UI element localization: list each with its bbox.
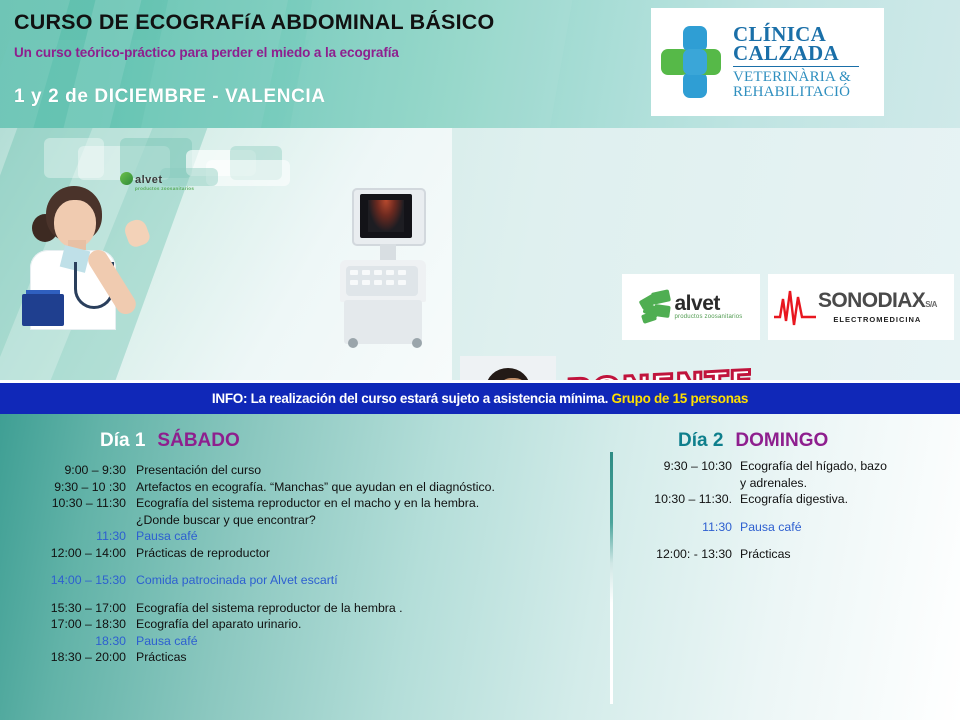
schedule-row: 12:00: - 13:30Prácticas: [626, 546, 946, 563]
schedule-row-description: Prácticas de reproductor: [136, 545, 607, 562]
clinic-logo-line3: VETERINÀRIA &: [733, 70, 859, 85]
schedule-row: 15:30 – 17:00Ecografía del sistema repro…: [22, 600, 607, 617]
alvet-logo-word: alvet: [675, 295, 743, 313]
sonodiax-logo-sub: ELECTROMEDICINA: [818, 315, 937, 324]
day2-label: Día 2: [678, 430, 723, 451]
course-title: CURSO DE ECOGRAFíA ABDOMINAL BÁSICO: [14, 10, 494, 35]
sonodiax-logo: SONODIAXS/A ELECTROMEDICINA: [768, 274, 954, 340]
day1-label: Día 1: [100, 430, 145, 451]
veterinary-cross-icon: [661, 26, 727, 98]
schedule-row: 14:00 – 15:30Comida patrocinada por Alve…: [22, 572, 607, 589]
schedule-spacer: [626, 535, 946, 546]
schedule-row-description: Pausa café: [740, 519, 946, 536]
ponente-banner: PONENTE: [566, 363, 753, 380]
info-bar-highlight: Grupo de 15 personas: [612, 391, 749, 406]
schedule-row: y adrenales.: [626, 475, 946, 492]
schedule-row-description: Pausa café: [136, 528, 607, 545]
schedule-row-description: Prácticas: [740, 546, 946, 563]
schedule-row-description: Presentación del curso: [136, 462, 607, 479]
schedule-row-description: y adrenales.: [740, 475, 946, 492]
presenter-photo: [460, 356, 556, 380]
clinic-logo-line4: REHABILITACIÓ: [733, 85, 859, 100]
schedule-row: 9:30 – 10:30Ecografía del hígado, bazo: [626, 458, 946, 475]
alvet-leaf-icon: [640, 291, 672, 323]
nurse-illustration: [22, 186, 150, 326]
schedule-row-time: 18:30: [22, 633, 136, 650]
day2-name: DOMINGO: [735, 430, 828, 451]
schedule-row-time: 10:30 – 11:30: [22, 495, 136, 512]
day2-schedule-list: 9:30 – 10:30Ecografía del hígado, bazoy …: [626, 458, 946, 563]
info-bar-prefix: INFO: La realización del curso estará su…: [212, 391, 608, 406]
schedule-row-time: 17:00 – 18:30: [22, 616, 136, 633]
alvet-logo: alvet productos zoosanitarios: [622, 274, 760, 340]
schedule-row: 11:30Pausa café: [22, 528, 607, 545]
sonodiax-logo-word: SONODIAX: [818, 289, 925, 312]
alvet-watermark-word: alvet: [135, 174, 163, 186]
schedule-row: 10:30 – 11:30.Ecografía digestiva.: [626, 491, 946, 508]
course-date-location: 1 y 2 de DICIEMBRE - VALENCIA: [14, 86, 326, 108]
schedule-row-description: Prácticas: [136, 649, 607, 666]
schedule-column-divider: [610, 452, 613, 704]
schedule-row-description: Ecografía del sistema reproductor de la …: [136, 600, 607, 617]
sonodiax-logo-suffix: S/A: [925, 300, 937, 309]
schedule-row-description: Comida patrocinada por Alvet escartí: [136, 572, 607, 589]
schedule-row: 12:00 – 14:00Prácticas de reproductor: [22, 545, 607, 562]
schedule-row: 9:30 – 10 :30Artefactos en ecografía. “M…: [22, 479, 607, 496]
poster-header: CURSO DE ECOGRAFíA ABDOMINAL BÁSICO Un c…: [0, 0, 960, 128]
schedule-row: 18:30 – 20:00Prácticas: [22, 649, 607, 666]
ultrasound-photo: alvet productos zoosanitarios: [0, 128, 452, 380]
alvet-leaf-icon: [120, 172, 133, 185]
schedule-row-description: ¿Donde buscar y que encontrar?: [136, 512, 607, 529]
schedule-row: ¿Donde buscar y que encontrar?: [22, 512, 607, 529]
schedule-row-time: 12:00 – 14:00: [22, 545, 136, 562]
schedule-spacer: [22, 589, 607, 600]
schedule-row-description: Ecografía del hígado, bazo: [740, 458, 946, 475]
day1-name: SÁBADO: [157, 430, 239, 451]
course-subtitle: Un curso teórico-práctico para perder el…: [14, 45, 399, 60]
schedule-row-time: 9:30 – 10 :30: [22, 479, 136, 496]
schedule-row: 17:00 – 18:30Ecografía del aparato urina…: [22, 616, 607, 633]
schedule-row: 10:30 – 11:30Ecografía del sistema repro…: [22, 495, 607, 512]
schedule-row-time: 12:00: - 13:30: [626, 546, 740, 563]
schedule-row-time: 15:30 – 17:00: [22, 600, 136, 617]
day1-schedule-list: 9:00 – 9:30Presentación del curso9:30 – …: [22, 462, 607, 666]
ultrasound-machine-illustration: [330, 188, 442, 348]
course-poster: CURSO DE ECOGRAFíA ABDOMINAL BÁSICO Un c…: [0, 0, 960, 720]
clinic-logo-line2: CALZADA: [733, 44, 859, 63]
schedule-row-time: 10:30 – 11:30.: [626, 491, 740, 508]
schedule-spacer: [22, 561, 607, 572]
poster-media-band: alvet productos zoosanitarios: [0, 128, 960, 380]
schedule-row-description: Ecografía del aparato urinario.: [136, 616, 607, 633]
day2-heading: Día 2DOMINGO: [678, 430, 828, 452]
info-bar-text: INFO: La realización del curso estará su…: [212, 391, 748, 406]
schedule-row-time: 11:30: [626, 519, 740, 536]
schedule-row: 11:30Pausa café: [626, 519, 946, 536]
info-bar: INFO: La realización del curso estará su…: [0, 383, 960, 414]
schedule-row-description: Artefactos en ecografía. “Manchas” que a…: [136, 479, 607, 496]
schedule-row-description: Ecografía del sistema reproductor en el …: [136, 495, 607, 512]
schedule-spacer: [626, 508, 946, 519]
schedule-row-time: 18:30 – 20:00: [22, 649, 136, 666]
day1-heading: Día 1SÁBADO: [100, 430, 240, 452]
schedule-row-description: Pausa café: [136, 633, 607, 650]
clinic-logo-rule: [733, 66, 859, 67]
schedule-row-time: 11:30: [22, 528, 136, 545]
schedule-row-description: Ecografía digestiva.: [740, 491, 946, 508]
schedule-row-time: 14:00 – 15:30: [22, 572, 136, 589]
ecg-waveform-icon: [774, 287, 816, 327]
schedule-row: 9:00 – 9:30Presentación del curso: [22, 462, 607, 479]
photo-decor-shape: [206, 160, 290, 186]
schedule-row: 18:30Pausa café: [22, 633, 607, 650]
schedule-row-time: 9:30 – 10:30: [626, 458, 740, 475]
alvet-logo-tagline: productos zoosanitarios: [675, 314, 743, 320]
schedule-row-time: 9:00 – 9:30: [22, 462, 136, 479]
clinica-calzada-logo: CLÍNICA CALZADA VETERINÀRIA & REHABILITA…: [651, 8, 884, 116]
